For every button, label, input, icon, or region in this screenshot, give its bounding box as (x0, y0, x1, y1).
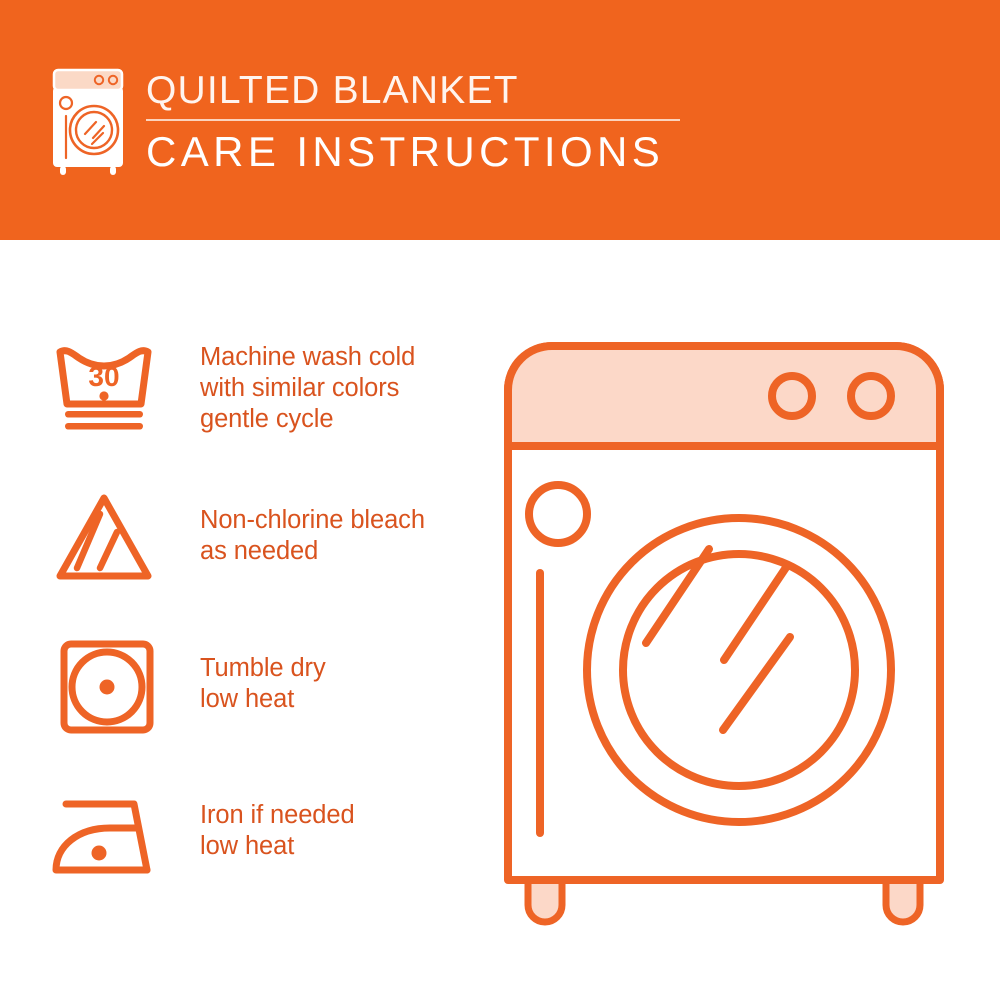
care-text-line: with similar colors (200, 373, 415, 404)
care-text-wash: Machine wash cold with similar colors ge… (200, 330, 415, 435)
title-divider (146, 119, 680, 121)
page-title-primary: QUILTED BLANKET (146, 68, 706, 114)
care-instructions-page: QUILTED BLANKET CARE INSTRUCTIONS 30 (0, 0, 1000, 1000)
control-panel (508, 346, 940, 446)
care-text-line: low heat (200, 684, 326, 715)
care-text-line: as needed (200, 536, 425, 567)
wash-tub-icon: 30 (48, 330, 166, 448)
care-row-wash: 30 Machine wash cold with similar colors… (0, 330, 480, 480)
care-text-line: Non-chlorine bleach (200, 505, 425, 536)
header-titles: QUILTED BLANKET CARE INSTRUCTIONS (146, 68, 706, 177)
care-text-line: Iron if needed (200, 800, 355, 831)
care-text-bleach: Non-chlorine bleach as needed (200, 480, 425, 567)
tumble-dry-icon (48, 628, 166, 746)
care-row-bleach: Non-chlorine bleach as needed (0, 480, 480, 628)
header-band: QUILTED BLANKET CARE INSTRUCTIONS (0, 0, 1000, 240)
iron-icon (48, 778, 166, 896)
care-text-line: Tumble dry (200, 653, 326, 684)
non-chlorine-bleach-triangle-icon (48, 480, 166, 598)
care-text-line: low heat (200, 831, 355, 862)
wash-temperature-label: 30 (88, 361, 119, 392)
page-title-secondary: CARE INSTRUCTIONS (146, 127, 706, 177)
care-instruction-list: 30 Machine wash cold with similar colors… (0, 330, 480, 918)
care-text-line: gentle cycle (200, 404, 415, 435)
care-text-dry: Tumble dry low heat (200, 628, 326, 715)
care-row-iron: Iron if needed low heat (0, 778, 480, 918)
care-text-line: Machine wash cold (200, 342, 415, 373)
care-row-dry: Tumble dry low heat (0, 628, 480, 778)
washing-machine-icon (44, 66, 132, 178)
care-text-iron: Iron if needed low heat (200, 778, 355, 862)
washing-machine-illustration (492, 330, 962, 940)
